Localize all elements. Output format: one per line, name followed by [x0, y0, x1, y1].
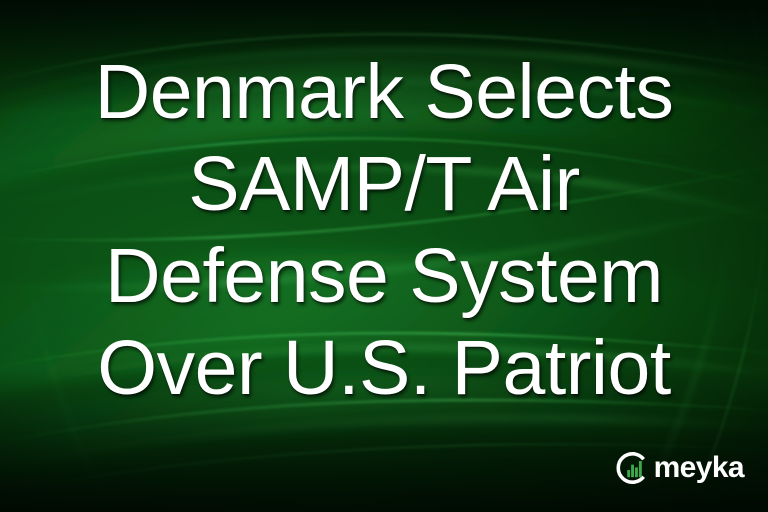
headline: Denmark Selects SAMP/T Air Defense Syste…	[0, 46, 768, 414]
headline-line-2: SAMP/T Air	[0, 138, 768, 230]
headline-line-4: Over U.S. Patriot	[0, 322, 768, 414]
headline-line-3: Defense System	[0, 230, 768, 322]
meyka-circle-bars-icon	[616, 450, 652, 486]
meyka-wordmark: meyka	[654, 453, 744, 483]
news-banner-card: Denmark Selects SAMP/T Air Defense Syste…	[0, 0, 768, 512]
meyka-logo[interactable]: meyka	[616, 450, 744, 486]
headline-line-1: Denmark Selects	[0, 46, 768, 138]
